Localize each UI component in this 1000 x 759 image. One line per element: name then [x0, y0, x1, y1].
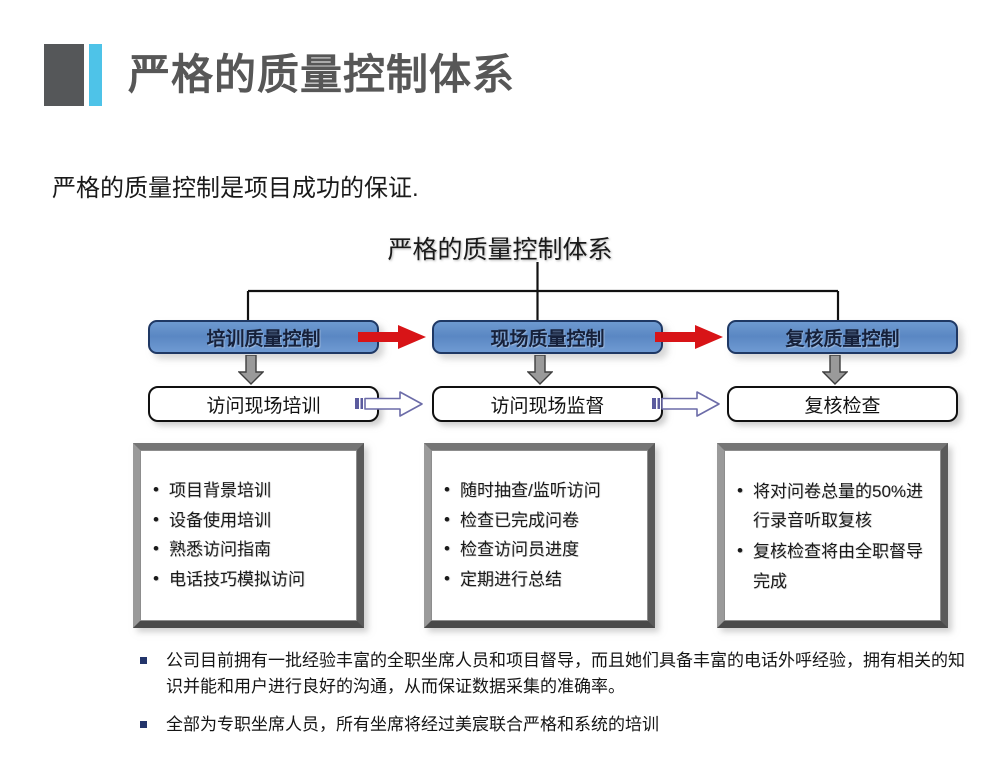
list-item: 检查已完成问卷	[444, 507, 639, 535]
process-box-training[interactable]: 培训质量控制	[148, 320, 379, 354]
detail-box-fieldwork-inner: 随时抽查/监听访问 检查已完成问卷 检查访问员进度 定期进行总结	[431, 450, 648, 621]
list-item: 熟悉访问指南	[153, 536, 348, 564]
list-item: 将对问卷总量的50%进行录音听取复核	[737, 477, 932, 535]
slide-canvas: 严格的质量控制体系 严格的质量控制是项目成功的保证. 严格的质量控制体系 培训质…	[0, 0, 1000, 759]
red-right-arrow-icon-1	[358, 325, 426, 349]
step-box-review-check[interactable]: 复核检查	[727, 386, 958, 422]
list-item: 公司目前拥有一批经验丰富的全职坐席人员和项目督导，而且她们具备丰富的电话外呼经验…	[138, 648, 978, 700]
gray-down-arrow-icon-3	[822, 355, 848, 385]
process-box-review[interactable]: 复核质量控制	[727, 320, 958, 354]
list-item: 定期进行总结	[444, 566, 639, 594]
detail-box-fieldwork: 随时抽查/监听访问 检查已完成问卷 检查访问员进度 定期进行总结	[424, 443, 655, 628]
process-box-fieldwork[interactable]: 现场质量控制	[432, 320, 663, 354]
step-box-review-check-label: 复核检查	[804, 391, 880, 418]
list-item: 设备使用培训	[153, 507, 348, 535]
step-box-visit-training[interactable]: 访问现场培训	[148, 386, 379, 422]
list-item: 复核检查将由全职督导完成	[737, 537, 932, 595]
red-right-arrow-icon-2	[655, 325, 723, 349]
detail-box-review-inner: 将对问卷总量的50%进行录音听取复核 复核检查将由全职督导完成	[724, 450, 941, 621]
detail-box-training: 项目背景培训 设备使用培训 熟悉访问指南 电话技巧模拟访问	[133, 443, 364, 628]
gray-down-arrow-icon-2	[527, 355, 553, 385]
step-box-visit-supervision[interactable]: 访问现场监督	[432, 386, 663, 422]
diagram-root-label: 严格的质量控制体系	[0, 230, 1000, 266]
step-box-visit-training-label: 访问现场培训	[206, 391, 320, 418]
slide-subtitle: 严格的质量控制是项目成功的保证.	[52, 168, 419, 203]
detail-box-review: 将对问卷总量的50%进行录音听取复核 复核检查将由全职督导完成	[717, 443, 948, 628]
page-title: 严格的质量控制体系	[128, 54, 515, 96]
list-item: 检查访问员进度	[444, 536, 639, 564]
title-accent-bar-blue	[89, 44, 102, 106]
step-box-visit-supervision-label: 访问现场监督	[490, 391, 604, 418]
list-item: 电话技巧模拟访问	[153, 566, 348, 594]
slide-title-row: 严格的质量控制体系	[44, 44, 515, 106]
process-box-training-label: 培训质量控制	[206, 324, 320, 351]
process-box-review-label: 复核质量控制	[785, 324, 899, 351]
footer-bullet-list: 公司目前拥有一批经验丰富的全职坐席人员和项目督导，而且她们具备丰富的电话外呼经验…	[138, 648, 978, 749]
hollow-right-arrow-icon-2	[652, 391, 720, 417]
detail-box-training-inner: 项目背景培训 设备使用培训 熟悉访问指南 电话技巧模拟访问	[140, 450, 357, 621]
list-item: 项目背景培训	[153, 477, 348, 505]
title-accent-bar-dark	[44, 44, 84, 106]
gray-down-arrow-icon-1	[238, 355, 264, 385]
detail-list-fieldwork: 随时抽查/监听访问 检查已完成问卷 检查访问员进度 定期进行总结	[444, 477, 639, 593]
list-item: 全部为专职坐席人员，所有坐席将经过美宸联合严格和系统的培训	[138, 712, 978, 738]
detail-list-review: 将对问卷总量的50%进行录音听取复核 复核检查将由全职督导完成	[737, 477, 932, 596]
detail-list-training: 项目背景培训 设备使用培训 熟悉访问指南 电话技巧模拟访问	[153, 477, 348, 593]
process-box-fieldwork-label: 现场质量控制	[490, 324, 604, 351]
list-item: 随时抽查/监听访问	[444, 477, 639, 505]
hollow-right-arrow-icon-1	[355, 391, 423, 417]
